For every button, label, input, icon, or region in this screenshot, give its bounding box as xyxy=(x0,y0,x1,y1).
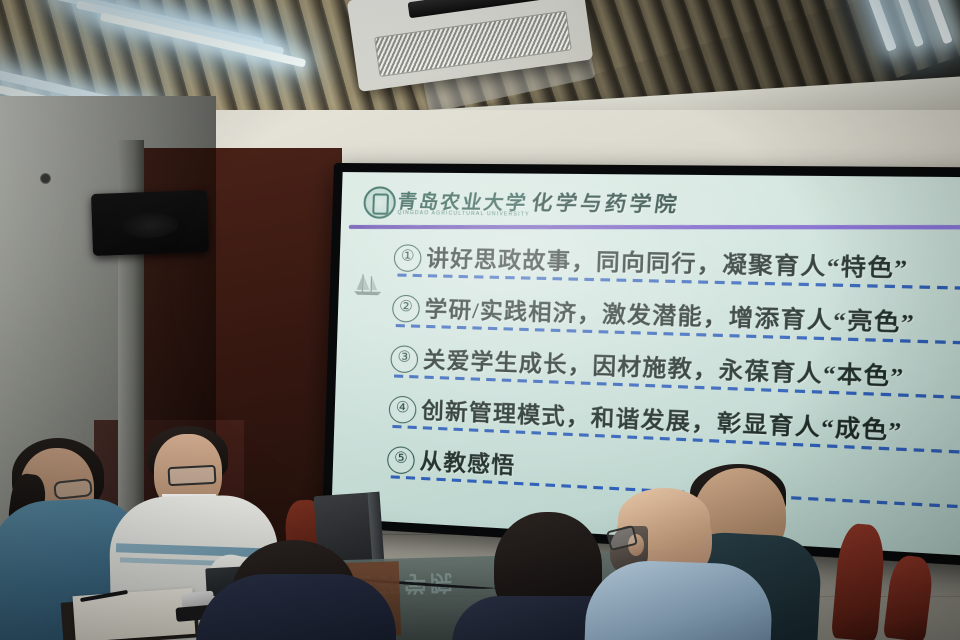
slide-bullet-list: ① 讲好思政故事，同向同行，凝聚育人“特色” ② 学研/实践相济，激发潜能，增添… xyxy=(344,234,960,515)
college-name: 化学与药学院 xyxy=(530,186,682,218)
speaker-cone-icon xyxy=(122,211,179,239)
university-name-en: QINGDAO AGRICULTURAL UNIVERSITY xyxy=(397,210,529,218)
bullet-number: ① xyxy=(394,244,422,272)
wall-mounted-speaker xyxy=(91,190,209,256)
bullet-number: ⑤ xyxy=(387,446,415,475)
smoke-detector-icon xyxy=(40,173,51,184)
glasses-icon xyxy=(168,465,217,486)
avatar xyxy=(585,559,774,640)
bullet-number: ③ xyxy=(390,345,418,373)
university-emblem-icon xyxy=(363,186,396,219)
bullet-number: ② xyxy=(392,295,420,323)
conference-room-photo: 青岛农业大学 QINGDAO AGRICULTURAL UNIVERSITY 化… xyxy=(0,0,960,640)
header-divider xyxy=(349,225,960,229)
bullet-text: 从教感悟 xyxy=(419,443,516,480)
bullet-number: ④ xyxy=(388,396,416,424)
